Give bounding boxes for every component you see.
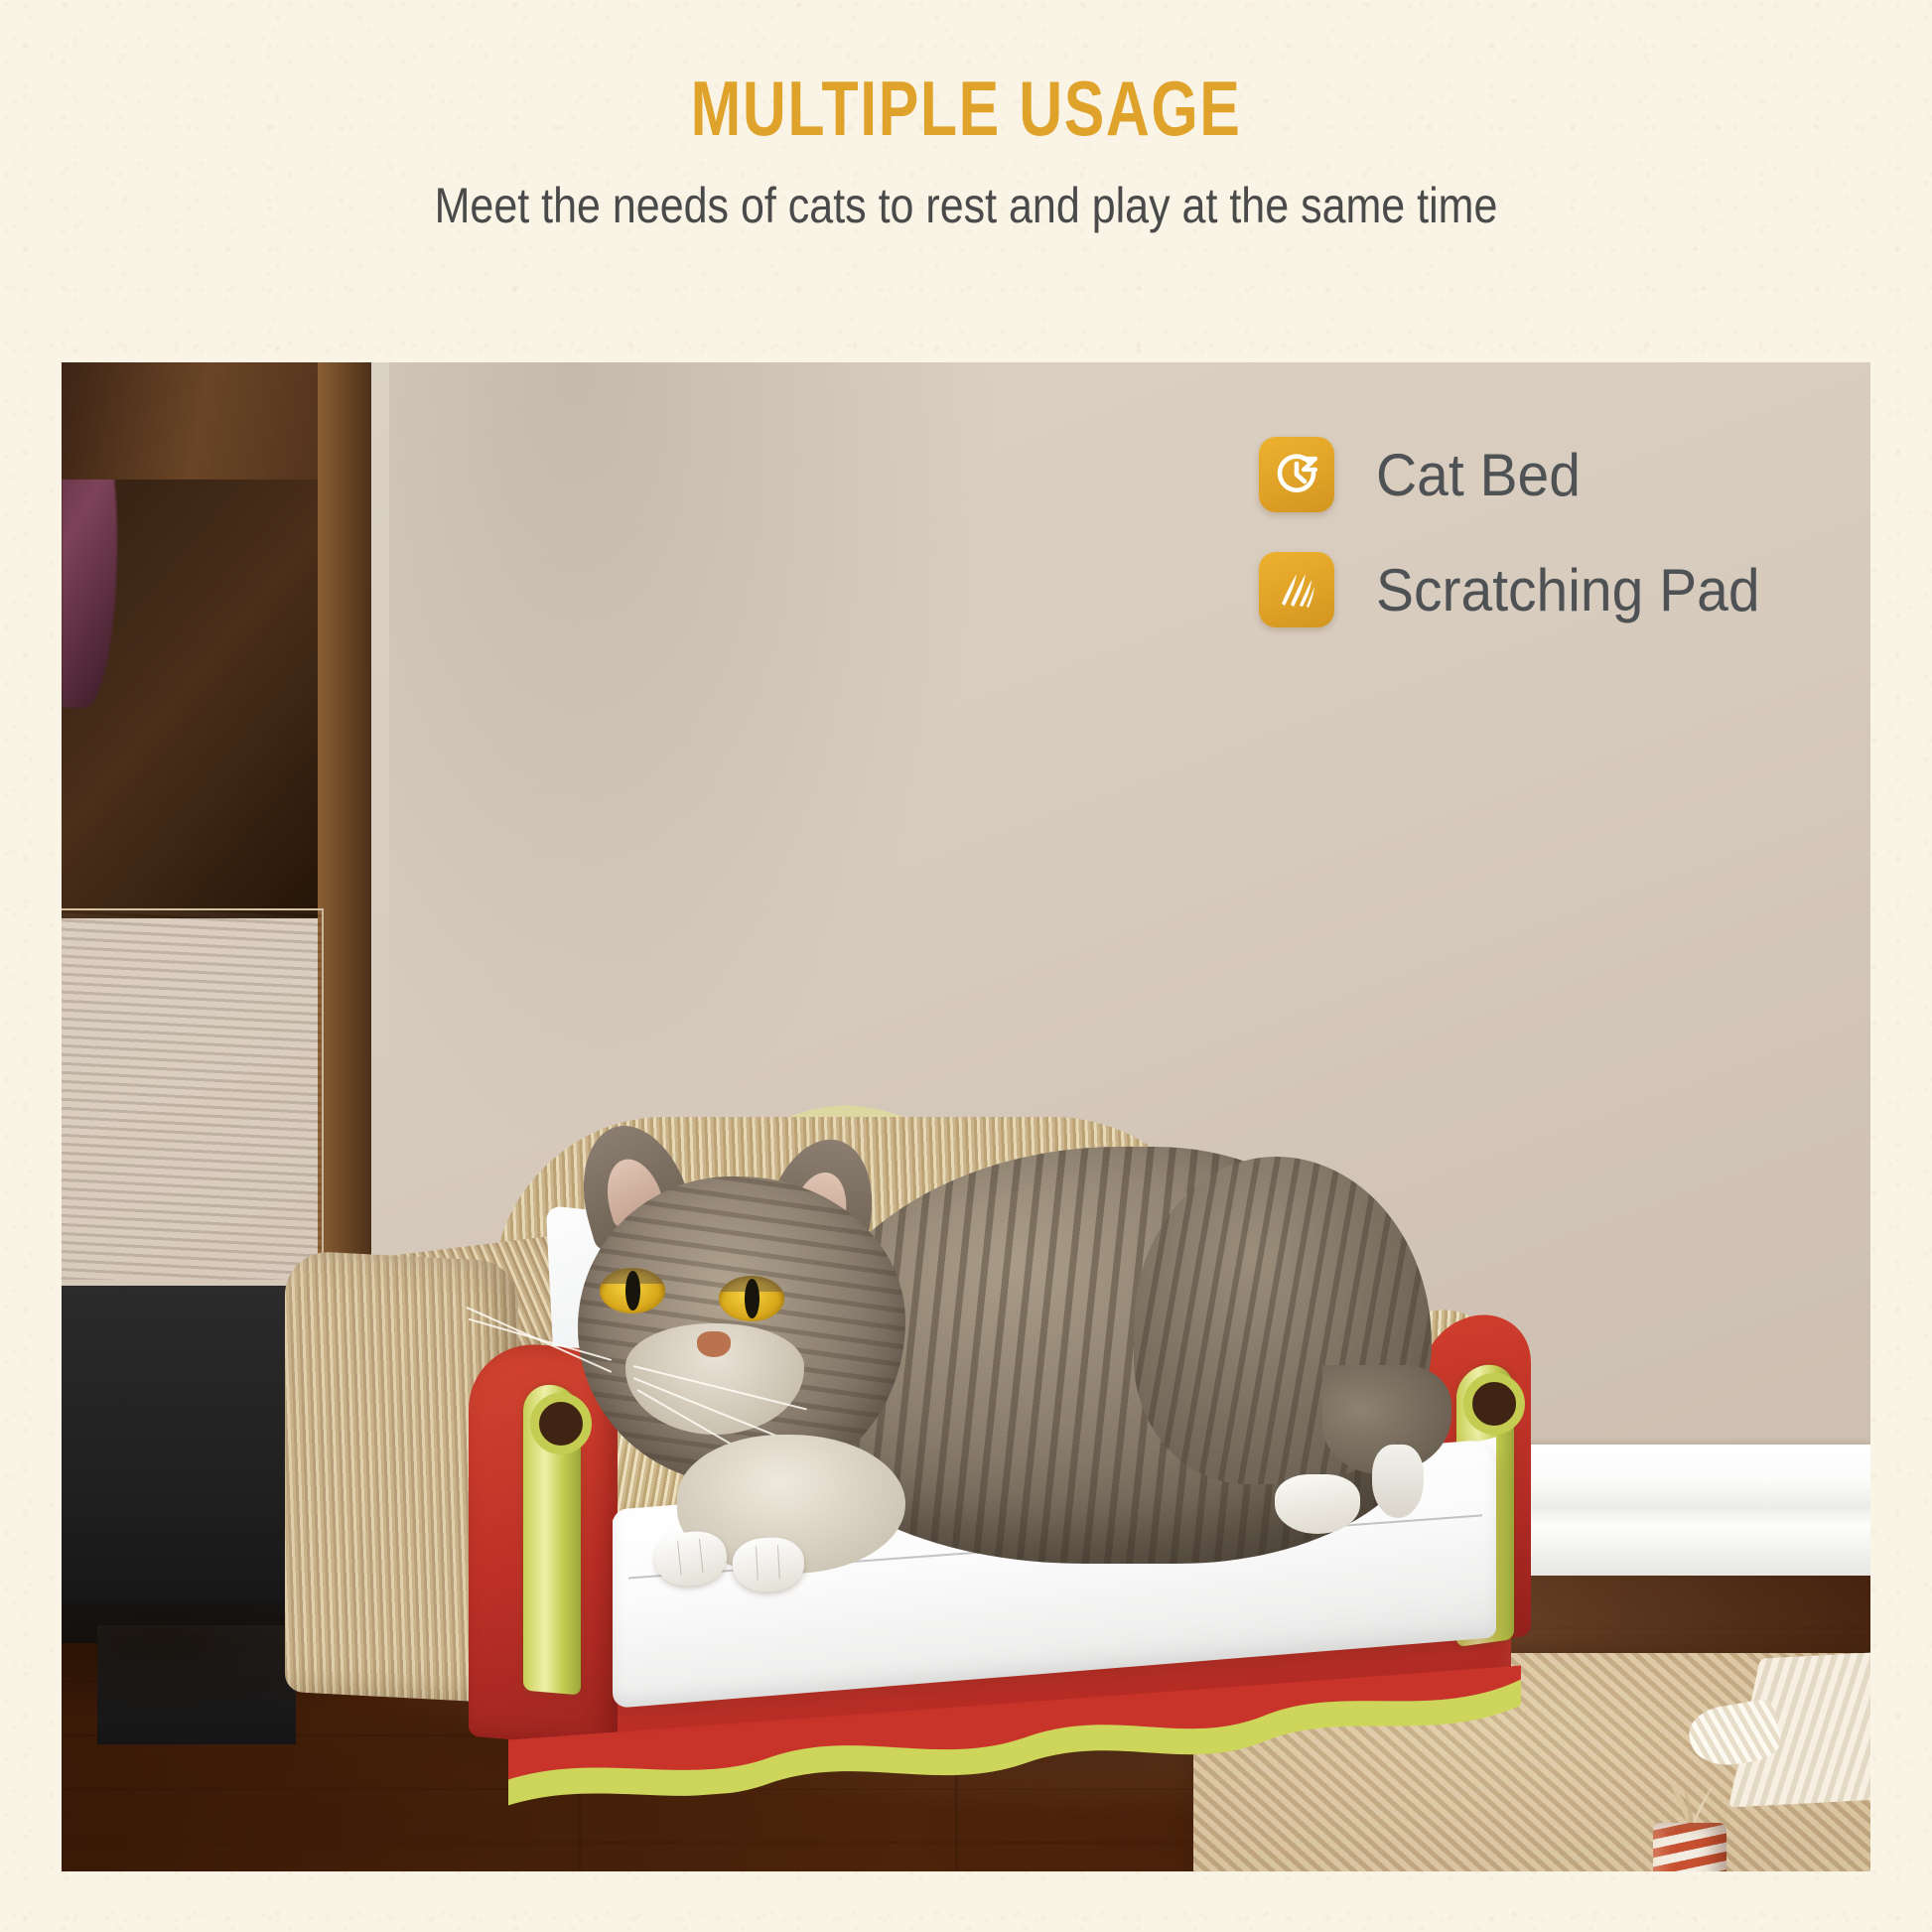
feature-item-cat-bed[interactable]: Cat Bed bbox=[1259, 437, 1780, 512]
cabinet-dark-panel bbox=[62, 1286, 322, 1643]
product-photo: PawHut bbox=[62, 362, 1870, 1871]
cat-back-paw bbox=[1275, 1474, 1360, 1534]
page-title: MULTIPLE USAGE bbox=[212, 69, 1720, 147]
toy-rope-body bbox=[1653, 1823, 1726, 1871]
header: MULTIPLE USAGE Meet the needs of cats to… bbox=[0, 69, 1932, 230]
sofa-right-scroll-eye bbox=[1463, 1373, 1525, 1435]
page-subtitle: Meet the needs of cats to rest and play … bbox=[135, 181, 1797, 230]
cat-right-eye bbox=[719, 1276, 784, 1321]
cat-left-eye bbox=[600, 1268, 665, 1313]
cat-front-paw-left bbox=[652, 1528, 729, 1588]
cat-front-paw-right bbox=[732, 1536, 806, 1593]
feature-item-scratching-pad[interactable]: Scratching Pad bbox=[1259, 552, 1780, 627]
feature-list: Cat Bed Scratching Pad bbox=[1259, 437, 1780, 667]
feature-label-cat-bed: Cat Bed bbox=[1376, 441, 1581, 509]
drawer-wood-grain bbox=[62, 910, 322, 1280]
sleep-clock-icon bbox=[1259, 437, 1334, 512]
scratch-marks-icon bbox=[1259, 552, 1334, 627]
cat-nose bbox=[697, 1331, 731, 1357]
grey-tabby-cat bbox=[538, 1117, 1432, 1673]
rope-cat-toy bbox=[1635, 1767, 1744, 1871]
feature-label-scratching-pad: Scratching Pad bbox=[1376, 556, 1760, 624]
cat-tail-tip bbox=[1372, 1445, 1424, 1518]
